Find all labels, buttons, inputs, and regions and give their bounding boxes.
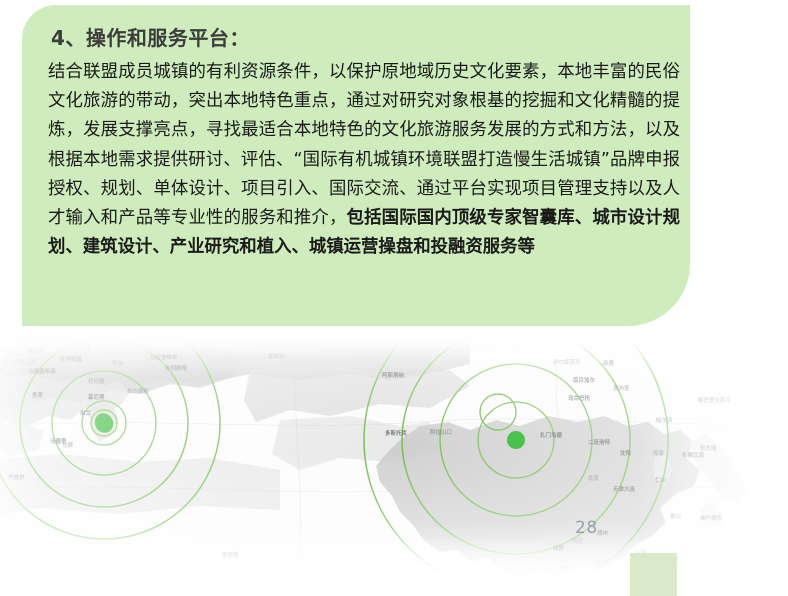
map-label: 后贝加尔	[573, 376, 595, 384]
panel-body: 结合联盟成员城镇的有利资源条件，以保护原地域历史文化要素，本地丰富的民俗文化旅游…	[48, 58, 680, 262]
panel-body-normal-text: 结合联盟成员城镇的有利资源条件，以保护原地域历史文化要素，本地丰富的民俗文化旅游…	[48, 62, 680, 228]
map-label: 沈阳	[620, 449, 631, 457]
map-label: 二连浩特	[588, 438, 610, 446]
panel-title: 4、操作和服务平台：	[51, 22, 250, 51]
page-number: 28	[575, 518, 598, 538]
map-label: 马赛	[62, 441, 73, 449]
map-label: 阿斯塔纳	[382, 371, 404, 379]
map-label: 北京	[588, 474, 599, 482]
map-label: 多斯托克	[385, 429, 407, 437]
decorative-green-swatch	[630, 553, 677, 596]
map-label: 满洲里	[613, 384, 630, 392]
map-label: 乌兰巴托	[568, 394, 590, 402]
map-label: 纽伦堡	[88, 377, 105, 385]
map-label: 华沙	[112, 359, 123, 367]
map-label: 赤塔	[603, 359, 614, 367]
map-label: 布达佩斯	[127, 387, 149, 395]
content-panel: 4、操作和服务平台： 结合联盟成员城镇的有利资源条件，以保护原地域历史文化要素，…	[22, 5, 690, 326]
china-center-dot	[507, 431, 525, 449]
slide-root: 惠林分汉堡安特卫普杜伊斯堡马德堡希港华沙马拉舍维奇布列斯特纽伦堡里昂慕尼黑布达佩…	[0, 0, 788, 596]
map-label: 布列斯特	[165, 364, 187, 372]
map-label: 杜伊斯堡	[60, 355, 82, 363]
map-label: 天津大连	[613, 485, 635, 493]
map-label: 阿拉山口	[430, 428, 452, 436]
map-label: 米兰	[80, 409, 91, 417]
map-fade-left	[0, 330, 40, 596]
map-label: 伊尔库茨克	[552, 358, 581, 366]
map-label: 扎门乌德	[540, 431, 562, 439]
map-label: 慕尼黑	[88, 393, 105, 401]
